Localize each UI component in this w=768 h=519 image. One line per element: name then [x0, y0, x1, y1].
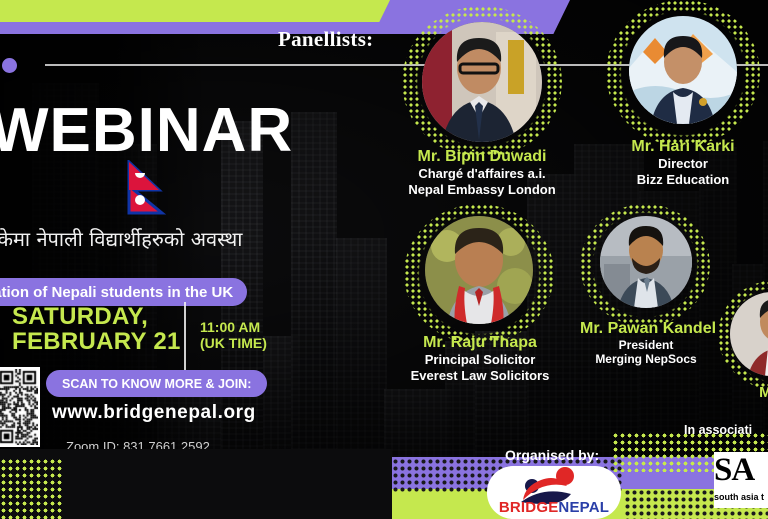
bridgenepal-bridge-text: BRIDGE [499, 499, 559, 516]
panellist-role-line1: Director [608, 156, 758, 172]
panellist-photo-ring [404, 212, 556, 330]
panellist-card-pawan-kandel: Mr. Pawan Kandel President Merging NepSo… [580, 212, 712, 367]
panellist-photo-ring [608, 10, 758, 134]
panellist-photo-ring [722, 288, 768, 380]
sat-acronym: SA [714, 454, 768, 487]
organised-by-label: Organised by: [505, 447, 599, 463]
panellist-card-hari-karki: Mr. Hari Karki Director Bizz Education [608, 10, 758, 187]
page-title: WEBINAR [0, 100, 293, 162]
panellist-role-line2: Everest Law Solicitors [404, 368, 556, 384]
event-date-line2: FEBRUARY 21 [12, 330, 181, 355]
panellist-role-line1: Chargé d'affaires a.i. [396, 166, 568, 182]
panellist-role-line1: Sr. [722, 401, 768, 415]
avatar [629, 16, 737, 124]
qr-code[interactable] [0, 367, 40, 447]
panellist-role-line2: Nepal Embassy London [396, 182, 568, 198]
sat-logo: SA south asia t [714, 452, 768, 508]
panellist-photo-ring [396, 14, 568, 144]
bottom-left-halftone [0, 458, 64, 519]
avatar [422, 22, 542, 142]
event-time-line2: (UK TIME) [200, 336, 267, 352]
panellist-role-line2: Merging NepSocs [580, 352, 712, 366]
panellist-card-bipin-duwadi: Mr. Bipin Duwadi Chargé d'affaires a.i. … [396, 14, 568, 197]
event-time-line1: 11:00 AM [200, 320, 267, 336]
event-time: 11:00 AM (UK TIME) [200, 320, 267, 351]
avatar [600, 216, 692, 308]
panellist-role-line2: Bizz Education [608, 172, 758, 188]
nepal-flag-icon [126, 160, 172, 216]
panellist-card-raju-thapa: Mr. Raju Thapa Principal Solicitor Evere… [404, 212, 556, 383]
subtitle-banner: uation of Nepali students in the UK [0, 278, 247, 306]
avatar [425, 216, 533, 324]
website-url[interactable]: www.bridgenepal.org [52, 402, 256, 424]
panellists-heading: Panellists: [278, 27, 373, 52]
nepali-headline: युकेमा नेपाली विद्यार्थीहरुको अवस्था [0, 225, 242, 252]
top-green-ribbon [0, 0, 390, 22]
scan-to-join-button[interactable]: SCAN TO KNOW MORE & JOIN: [46, 370, 267, 397]
bridgenepal-nepal-text: NEPAL [558, 499, 609, 516]
purple-dot-decoration [2, 58, 17, 73]
panellist-role-line1: President [580, 338, 712, 352]
webinar-poster: Panellists: WEBINAR युकेमा नेपाली विद्या… [0, 0, 768, 519]
panellist-photo-ring [580, 212, 712, 316]
bridgenepal-wordmark: BRIDGENEPAL [487, 499, 621, 516]
date-time-divider [184, 302, 186, 370]
panellist-role-line1: Principal Solicitor [404, 352, 556, 368]
in-association-label: In associati [684, 423, 752, 437]
event-date-line1: SATURDAY, [12, 305, 181, 330]
sat-subtitle: south asia t [714, 492, 768, 502]
bridgenepal-logo: BRIDGENEPAL [487, 466, 621, 519]
panellist-card-bh-cropped: Mr. Bh Sr. [722, 288, 768, 415]
event-date: SATURDAY, FEBRUARY 21 [12, 305, 181, 355]
